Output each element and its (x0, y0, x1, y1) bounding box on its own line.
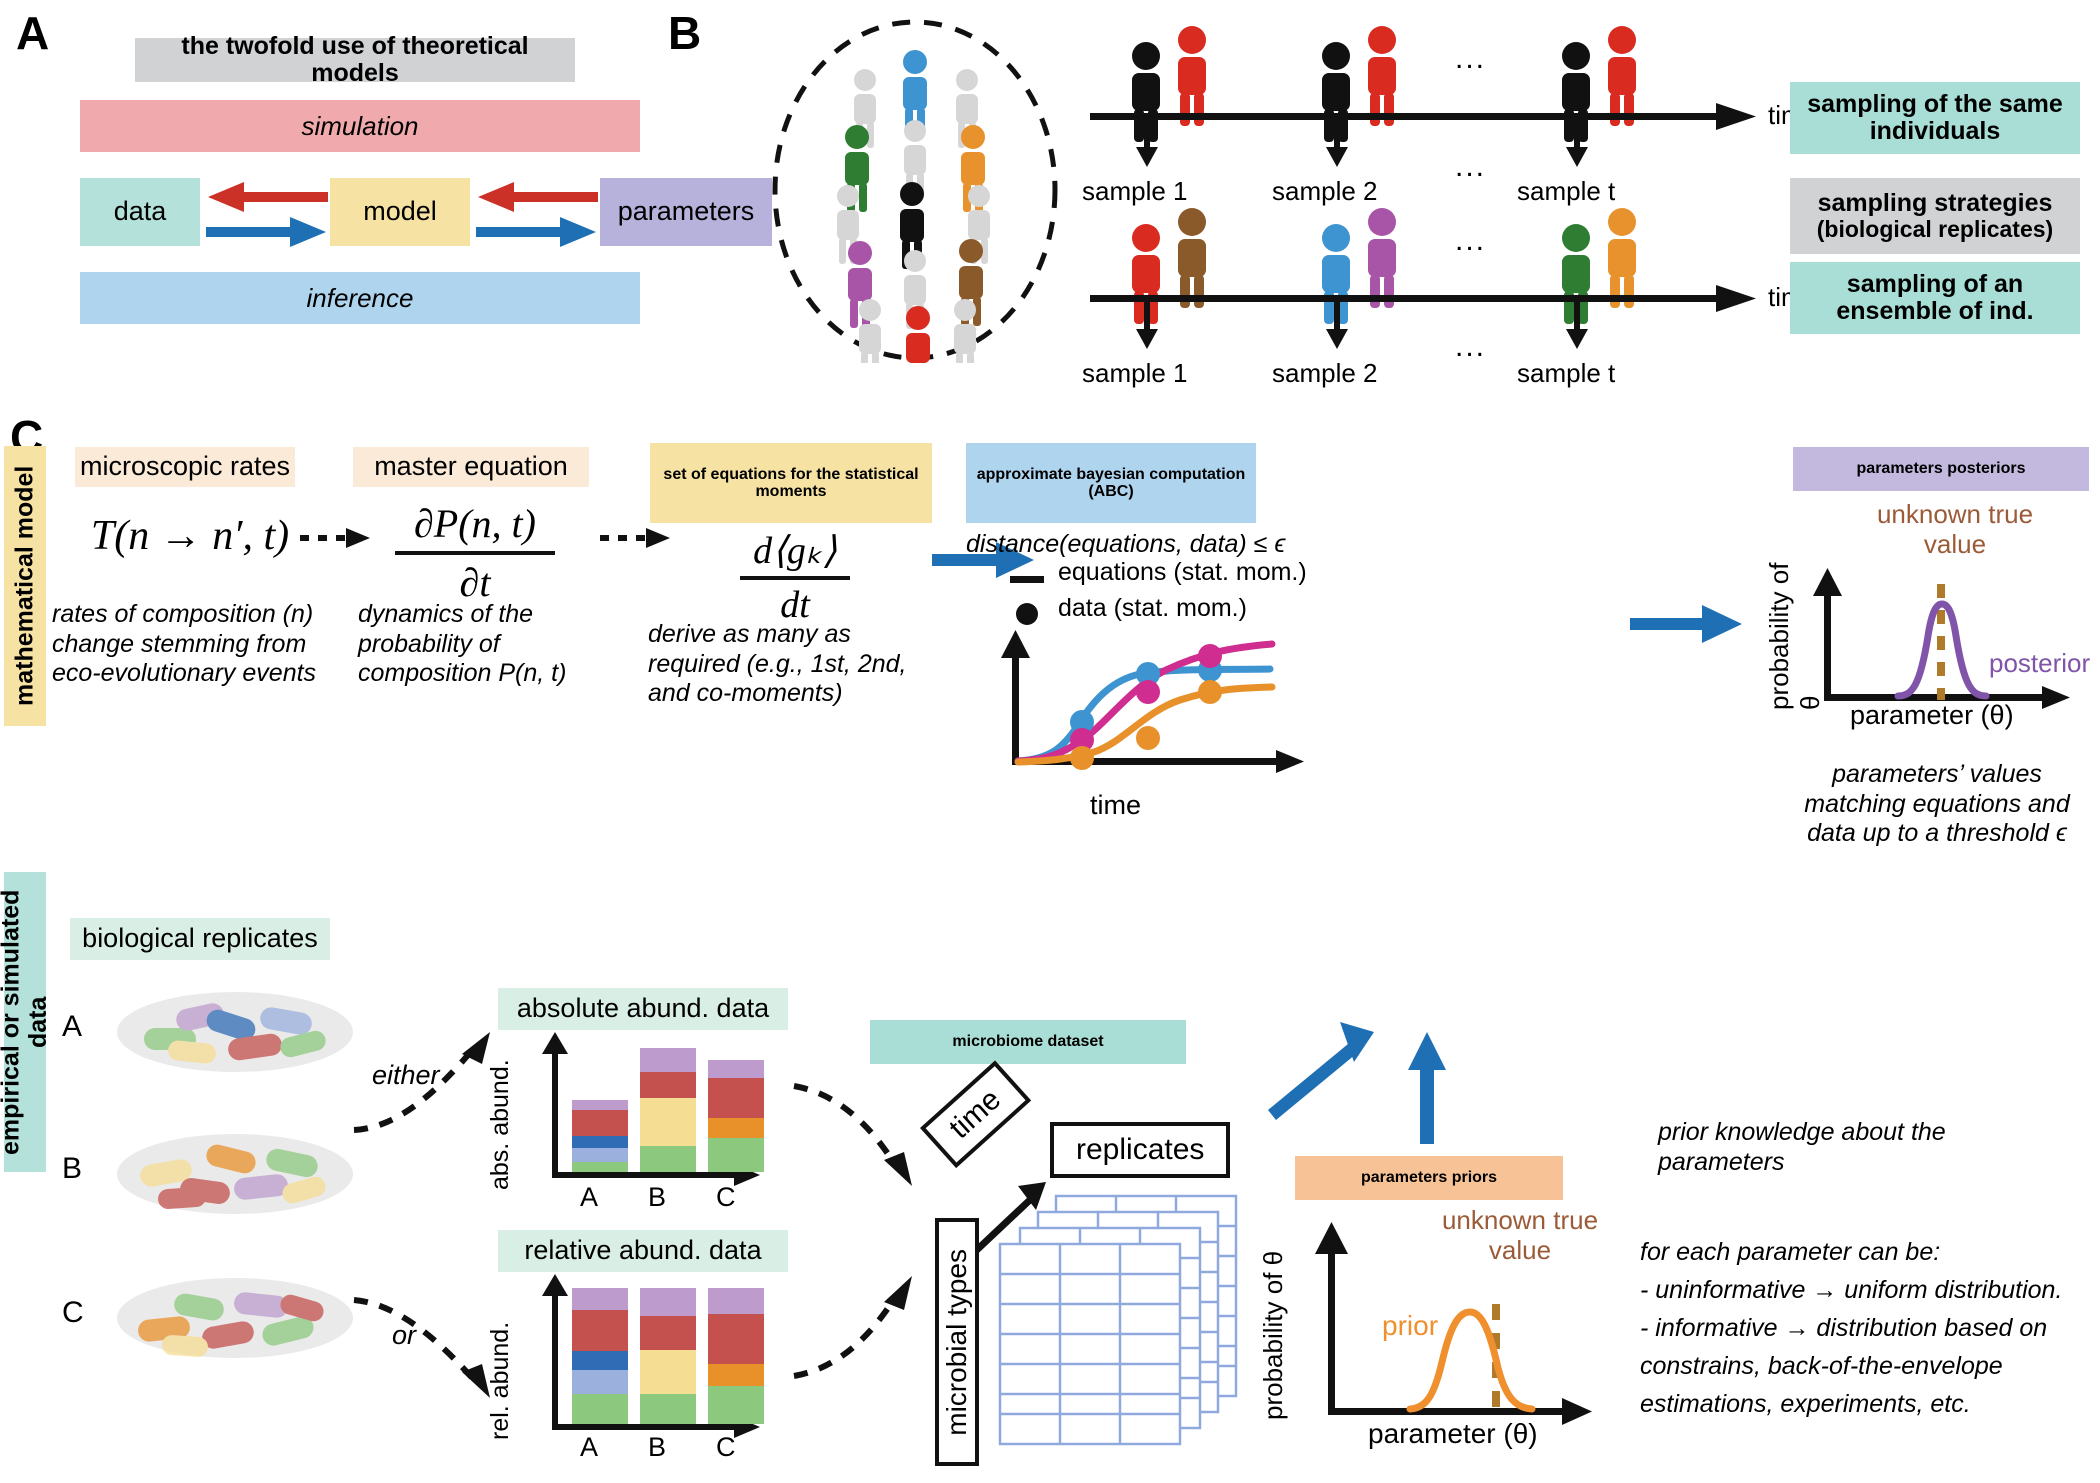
ellipsis-bottom-axis: ... (1455, 330, 1486, 364)
bar-b (640, 1048, 696, 1172)
sample-label-bottom-2: sample 2 (1272, 358, 1378, 389)
ellipsis-top-figures: ... (1455, 42, 1486, 76)
arrow-dataset-to-abc-icon (1262, 1010, 1392, 1120)
axis-label-microbial-types: microbial types (935, 1218, 979, 1466)
prior-xlabel: parameter (θ) (1368, 1418, 1538, 1450)
abc-distance-formula: distance(equations, data) ≤ ϵ (966, 530, 1296, 560)
abc-fit-chart (990, 630, 1320, 790)
header-statistical-moments: set of equations for the statistical mom… (650, 443, 932, 523)
rel-abundance-tick-a: A (580, 1432, 598, 1463)
replicate-blob-b (110, 1122, 360, 1222)
rel-abundance-tick-b: B (648, 1432, 666, 1463)
arrow-priors-to-abc-icon (1400, 1030, 1460, 1150)
header-microbiome-dataset: microbiome dataset (870, 1020, 1186, 1064)
relative-abundance-chart (528, 1272, 778, 1452)
equation-moments-numerator: d⟨gₖ⟩ (680, 528, 910, 573)
equation-master-denominator: ∂t (360, 559, 590, 606)
equation-master-equation: ∂P(n, t) ∂t (360, 500, 590, 606)
header-parameters-priors: parameters priors (1295, 1156, 1563, 1200)
timeline-top-axis (1090, 95, 1790, 171)
abc-xlabel: time (1090, 790, 1141, 821)
inference-bar: inference (80, 272, 640, 324)
axis-label-replicates: replicates (1050, 1122, 1230, 1178)
prior-note-line-3: constrains, back-of-the-envelope (1640, 1352, 2100, 1382)
bar-a (572, 1100, 628, 1172)
label-or: or (392, 1320, 416, 1352)
data-model-arrows (200, 172, 335, 254)
prior-curve-label: prior (1382, 1310, 1438, 1342)
arrow-right-blue-icon (476, 217, 596, 247)
callout-sampling-ensemble: sampling of an ensemble of ind. (1790, 262, 2080, 334)
callout-sampling-same-individuals: sampling of the same individuals (1790, 82, 2080, 154)
abs-abundance-tick-b: B (648, 1182, 666, 1213)
equation-microscopic-rates: T(n → n′, t) (80, 512, 300, 560)
legend-line-icon (1010, 566, 1046, 592)
desc-moments: derive as many as required (e.g., 1st, 2… (648, 620, 938, 709)
sample-label-bottom-3: sample t (1517, 358, 1615, 389)
header-microscopic-rates: microscopic rates (75, 447, 295, 487)
arrow-left-red-icon (478, 182, 598, 212)
abs-abundance-ylabel: abs. abund. (486, 1040, 515, 1190)
arrow-to-posteriors-icon (1628, 600, 1748, 650)
fraction-bar (395, 551, 555, 555)
prior-note-line-1: - uninformative → uniform distribution. (1640, 1276, 2100, 1306)
replicate-blob-a (110, 980, 360, 1080)
label-either: either (372, 1060, 440, 1092)
callout-sampling-strategies-title: sampling strategies (1817, 190, 2053, 217)
abs-abundance-tick-a: A (580, 1182, 598, 1213)
posterior-true-value-label: unknown true value (1845, 500, 2065, 560)
prior-note-line-2: - informative → distribution based on (1640, 1314, 2100, 1344)
rel-abundance-ylabel: rel. abund. (486, 1290, 515, 1440)
replicate-label-c: C (62, 1296, 84, 1330)
header-master-equation: master equation (353, 447, 589, 487)
band-empirical-or-simulated-data: empirical or simulated data (4, 872, 46, 1172)
sample-label-bottom-1: sample 1 (1082, 358, 1188, 389)
rel-abundance-tick-c: C (716, 1432, 736, 1463)
replicate-label-a: A (62, 1010, 82, 1044)
parameters-box: parameters (600, 178, 772, 246)
desc-priors: prior knowledge about the parameters (1658, 1118, 2038, 1177)
header-relative-abundance: relative abund. data (498, 1230, 788, 1272)
header-parameters-posteriors: parameters posteriors (1793, 447, 2089, 491)
person-icon-group (837, 50, 990, 363)
callout-sampling-strategies: sampling strategies (biological replicat… (1790, 178, 2080, 254)
arrow-left-red-icon (208, 182, 328, 212)
table-layers (1000, 1196, 1236, 1444)
prior-distribution-chart (1280, 1216, 1620, 1446)
axis-label-microbial-types-text: microbial types (941, 1249, 973, 1436)
bar-c (708, 1060, 764, 1172)
population-ellipse (760, 18, 1070, 363)
callout-sampling-strategies-sub: (biological replicates) (1817, 217, 2053, 242)
prior-note-title: for each parameter can be: (1640, 1238, 2090, 1268)
equation-moments: d⟨gₖ⟩ dt (680, 528, 910, 627)
prior-ylabel: probability of θ (1258, 1230, 1289, 1420)
desc-master-equation: dynamics of the probability of compositi… (358, 600, 608, 689)
bar-b (640, 1288, 696, 1424)
header-absolute-abundance: absolute abund. data (498, 988, 788, 1030)
data-box: data (80, 178, 200, 246)
desc-microscopic-rates: rates of composition (n) change stemming… (52, 600, 332, 689)
posterior-curve-label: posterior (1989, 648, 2090, 679)
arrow-right-blue-icon (206, 217, 326, 247)
fraction-bar (740, 576, 850, 580)
replicate-label-b: B (62, 1152, 82, 1186)
header-abc: approximate bayesian computation (ABC) (966, 443, 1256, 523)
dashed-arrow-or-icon (350, 1270, 500, 1410)
desc-posteriors: parameters’ values matching equations an… (1782, 760, 2092, 849)
panel-b-letter: B (668, 6, 701, 60)
timeline-bottom-axis (1090, 277, 1790, 353)
prior-note-line-4: estimations, experiments, etc. (1640, 1390, 2100, 1420)
dashed-arrow-icon (600, 525, 672, 551)
header-biological-replicates: biological replicates (70, 918, 330, 960)
abs-abundance-tick-c: C (716, 1182, 736, 1213)
bar-a (572, 1288, 628, 1424)
simulation-bar: simulation (80, 100, 640, 152)
abc-legend-equations: equations (stat. mom.) (1058, 558, 1307, 587)
panel-a-letter: A (16, 6, 49, 60)
posterior-ylabel: probability of θ (1764, 560, 1826, 710)
ellipsis-bottom-figures: ... (1455, 224, 1486, 258)
equation-master-numerator: ∂P(n, t) (360, 500, 590, 547)
bar-c (708, 1288, 764, 1424)
model-box: model (330, 178, 470, 246)
posterior-xlabel: parameter (θ) (1850, 700, 2014, 731)
absolute-abundance-chart (528, 1030, 778, 1200)
legend-dot-icon (1014, 600, 1042, 628)
model-parameters-arrows (470, 172, 605, 254)
replicate-blob-c (110, 1266, 360, 1366)
abc-legend-data: data (stat. mom.) (1058, 594, 1247, 623)
panel-a-title: the twofold use of theoretical models (135, 38, 575, 82)
band-mathematical-model: mathematical model (4, 446, 46, 726)
ellipsis-top-axis: ... (1455, 150, 1486, 184)
